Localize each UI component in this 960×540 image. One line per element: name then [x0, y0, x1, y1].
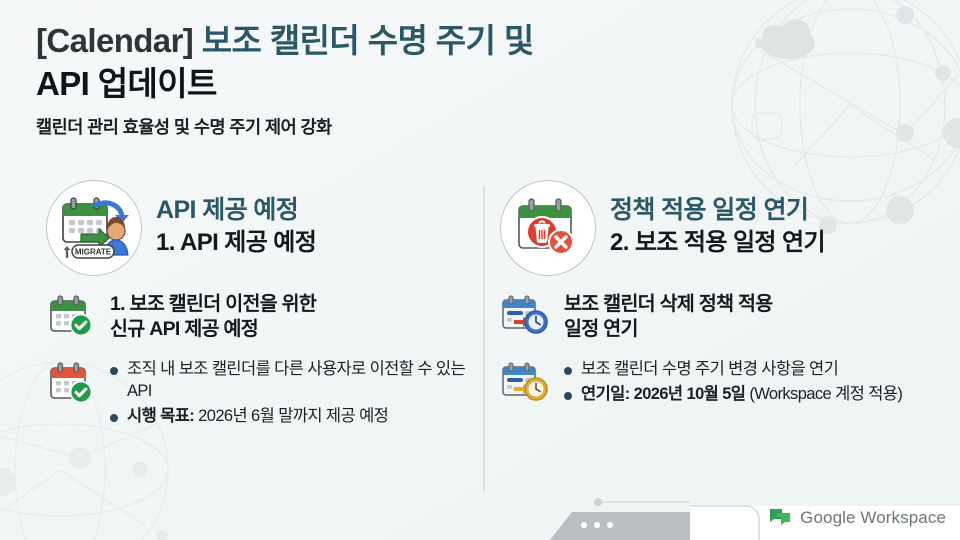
left-column-header: MIGRATE API 제공 예정 1. API 제공 예정: [46, 182, 466, 276]
page-subtitle: 캘린더 관리 효율성 및 수명 주기 제어 강화: [36, 114, 736, 139]
page-title-line-1: [Calendar] 보조 캘린더 수명 주기 및: [36, 20, 736, 62]
right-statement-text: 보조 캘린더 삭제 정책 적용 일정 연기: [564, 292, 946, 343]
left-bullet-0-text: 조직 내 보조 캘린더를 다른 사용자로 이전할 수 있는 API: [127, 360, 465, 400]
left-bullet-list-wrap: 조직 내 보조 캘린더를 다른 사용자로 이전할 수 있는 API 시행 목표:…: [110, 359, 466, 431]
right-bullet-list: 보조 캘린더 수명 주기 변경 사항을 연기 연기일: 2026년 10월 5일…: [564, 359, 946, 406]
calendar-clock-orange-arrow-icon: [500, 359, 550, 407]
right-statement-line-1: 보조 캘린더 삭제 정책 적용: [564, 292, 946, 317]
left-bullets-row: 조직 내 보조 캘린더를 다른 사용자로 이전할 수 있는 API 시행 목표:…: [46, 359, 466, 431]
calendar-migrate-person-icon: MIGRATE: [46, 180, 142, 276]
right-statement-line-2: 일정 연기: [564, 317, 946, 342]
left-bullet-1-strong: 시행 목표:: [127, 407, 194, 425]
right-header-text: 정책 적용 일정 연기 2. 보조 적용 일정 연기: [610, 182, 825, 258]
left-statement-text: 1. 보조 캘린더 이전을 위한 신규 API 제공 예정: [110, 292, 466, 343]
google-workspace-brand: Google Workspace: [769, 508, 946, 528]
title-product-tag: [Calendar]: [36, 22, 193, 59]
right-bullet-0-text: 보조 캘린더 수명 주기 변경 사항을 연기: [581, 360, 838, 378]
right-bullets-row: 보조 캘린더 수명 주기 변경 사항을 연기 연기일: 2026년 10월 5일…: [500, 359, 946, 409]
right-bullet-list-wrap: 보조 캘린더 수명 주기 변경 사항을 연기 연기일: 2026년 10월 5일…: [564, 359, 946, 409]
right-bullet-1-text: (Workspace 계정 적용): [745, 385, 902, 403]
left-header-text: API 제공 예정 1. API 제공 예정: [156, 182, 316, 258]
right-header-teal: 정책 적용 일정 연기: [610, 195, 825, 226]
list-item: 시행 목표: 2026년 6월 말까지 제공 예정: [110, 406, 466, 428]
left-header-dark: 1. API 제공 예정: [156, 228, 316, 258]
column-policy-postponement: 정책 적용 일정 연기 2. 보조 적용 일정 연기: [480, 182, 960, 492]
migrate-badge-label: MIGRATE: [75, 248, 112, 257]
left-bullet-1-text: 2026년 6월 말까지 제공 예정: [194, 407, 388, 425]
left-bullet-list: 조직 내 보조 캘린더를 다른 사용자로 이전할 수 있는 API 시행 목표:…: [110, 359, 466, 428]
right-header-dark: 2. 보조 적용 일정 연기: [610, 228, 825, 258]
right-statement-row: 보조 캘린더 삭제 정책 적용 일정 연기: [500, 292, 946, 343]
title-main-teal: 보조 캘린더 수명 주기 및: [202, 22, 534, 59]
right-column-header: 정책 적용 일정 연기 2. 보조 적용 일정 연기: [500, 182, 946, 276]
right-bullet-1-strong: 연기일: 2026년 10월 5일: [581, 385, 745, 403]
left-header-teal: API 제공 예정: [156, 195, 316, 226]
calendar-red-check-icon: [46, 359, 96, 407]
list-item: 조직 내 보조 캘린더를 다른 사용자로 이전할 수 있는 API: [110, 359, 466, 403]
calendar-clock-red-arrow-icon: [500, 292, 550, 340]
column-api-provision: MIGRATE API 제공 예정 1. API 제공 예정: [0, 182, 480, 492]
slide-root: [Calendar] 보조 캘린더 수명 주기 및 API 업데이트 캘린더 관…: [0, 0, 960, 540]
left-statement-line-2: 신규 API 제공 예정: [110, 317, 466, 342]
title-block: [Calendar] 보조 캘린더 수명 주기 및 API 업데이트 캘린더 관…: [36, 20, 736, 139]
google-workspace-chat-bubble-logo: [769, 508, 791, 528]
page-title-line-2: API 업데이트: [36, 63, 736, 105]
content-columns: MIGRATE API 제공 예정 1. API 제공 예정: [0, 182, 960, 492]
list-item: 연기일: 2026년 10월 5일 (Workspace 계정 적용): [564, 384, 946, 406]
calendar-trash-delete-icon: [500, 180, 596, 276]
left-statement-line-1: 1. 보조 캘린더 이전을 위한: [110, 292, 466, 317]
list-item: 보조 캘린더 수명 주기 변경 사항을 연기: [564, 359, 946, 381]
left-statement-row: 1. 보조 캘린더 이전을 위한 신규 API 제공 예정: [46, 292, 466, 343]
brand-text: Google Workspace: [800, 508, 946, 528]
calendar-green-check-icon: [46, 292, 96, 340]
